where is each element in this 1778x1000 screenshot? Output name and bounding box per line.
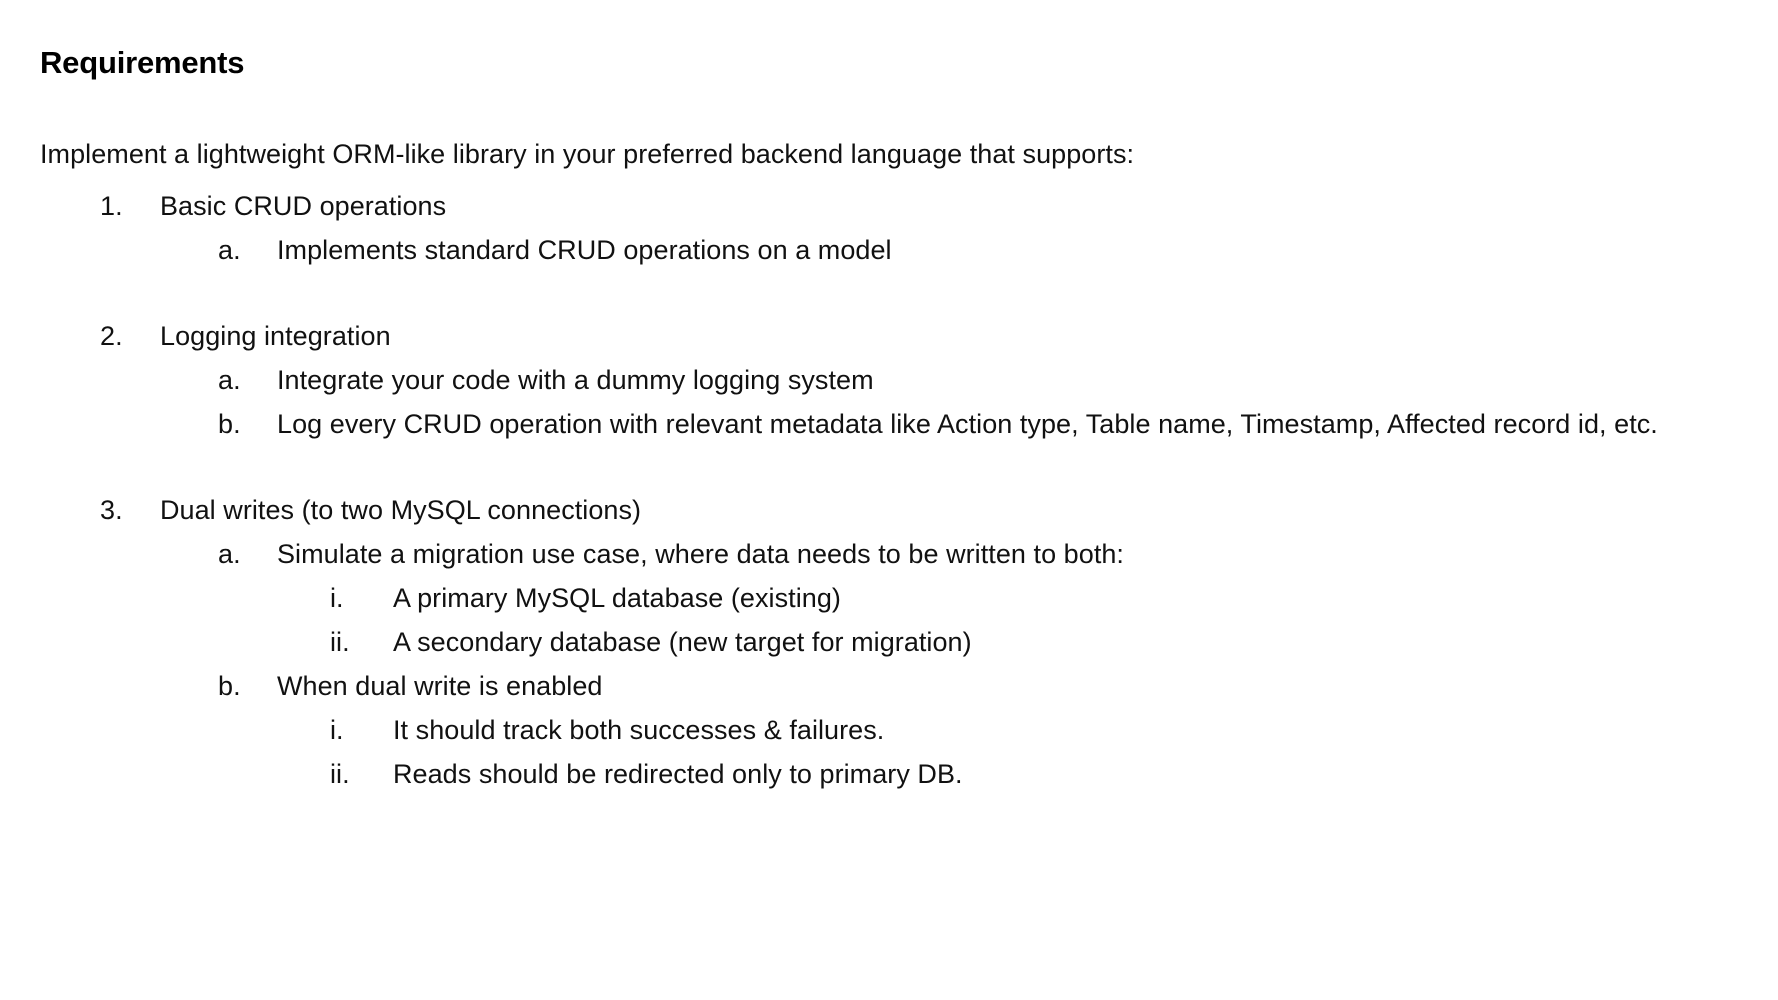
intro-paragraph: Implement a lightweight ORM-like library… [40, 134, 1134, 174]
list-item: 3.Dual writes (to two MySQL connections) [0, 488, 1778, 532]
list-item: i.It should track both successes & failu… [0, 708, 1778, 752]
list-item-marker: ii. [330, 752, 350, 796]
list-item-marker: a. [218, 358, 241, 402]
list-item-marker: b. [218, 664, 241, 708]
page-title: Requirements [40, 43, 244, 83]
list-item: 2.Logging integration [0, 314, 1778, 358]
list-item-text: Logging integration [160, 314, 1720, 358]
list-item-text: Integrate your code with a dummy logging… [277, 358, 1720, 402]
list-item-marker: b. [218, 402, 241, 446]
list-item-marker: i. [330, 576, 344, 620]
list-item: b.When dual write is enabled [0, 664, 1778, 708]
list-item: ii.Reads should be redirected only to pr… [0, 752, 1778, 796]
list-item: a.Simulate a migration use case, where d… [0, 532, 1778, 576]
list-item: ii.A secondary database (new target for … [0, 620, 1778, 664]
list-item-text: It should track both successes & failure… [393, 708, 1720, 752]
list-item: a.Integrate your code with a dummy loggi… [0, 358, 1778, 402]
list-item-marker: ii. [330, 620, 350, 664]
list-item-marker: i. [330, 708, 344, 752]
requirement-group: 3.Dual writes (to two MySQL connections)… [0, 488, 1778, 796]
list-item: 1.Basic CRUD operations [0, 184, 1778, 228]
list-item-text: A secondary database (new target for mig… [393, 620, 1720, 664]
list-item-marker: 1. [100, 184, 123, 228]
list-item-text: Simulate a migration use case, where dat… [277, 532, 1720, 576]
list-item-marker: 3. [100, 488, 123, 532]
list-item-text: Log every CRUD operation with relevant m… [277, 402, 1720, 446]
requirement-group: 1.Basic CRUD operationsa.Implements stan… [0, 184, 1778, 272]
requirement-group: 2.Logging integrationa.Integrate your co… [0, 314, 1778, 446]
list-item-text: When dual write is enabled [277, 664, 1720, 708]
list-item-text: Dual writes (to two MySQL connections) [160, 488, 1720, 532]
list-item-text: Basic CRUD operations [160, 184, 1720, 228]
requirements-document: Requirements Implement a lightweight ORM… [0, 0, 1778, 1000]
list-item: i.A primary MySQL database (existing) [0, 576, 1778, 620]
list-item-marker: a. [218, 532, 241, 576]
list-item-text: A primary MySQL database (existing) [393, 576, 1720, 620]
list-item: a.Implements standard CRUD operations on… [0, 228, 1778, 272]
list-item-marker: 2. [100, 314, 123, 358]
list-item-text: Implements standard CRUD operations on a… [277, 228, 1720, 272]
list-item-marker: a. [218, 228, 241, 272]
list-item-text: Reads should be redirected only to prima… [393, 752, 1720, 796]
list-item: b.Log every CRUD operation with relevant… [0, 402, 1778, 446]
requirements-list: 1.Basic CRUD operationsa.Implements stan… [0, 184, 1778, 796]
